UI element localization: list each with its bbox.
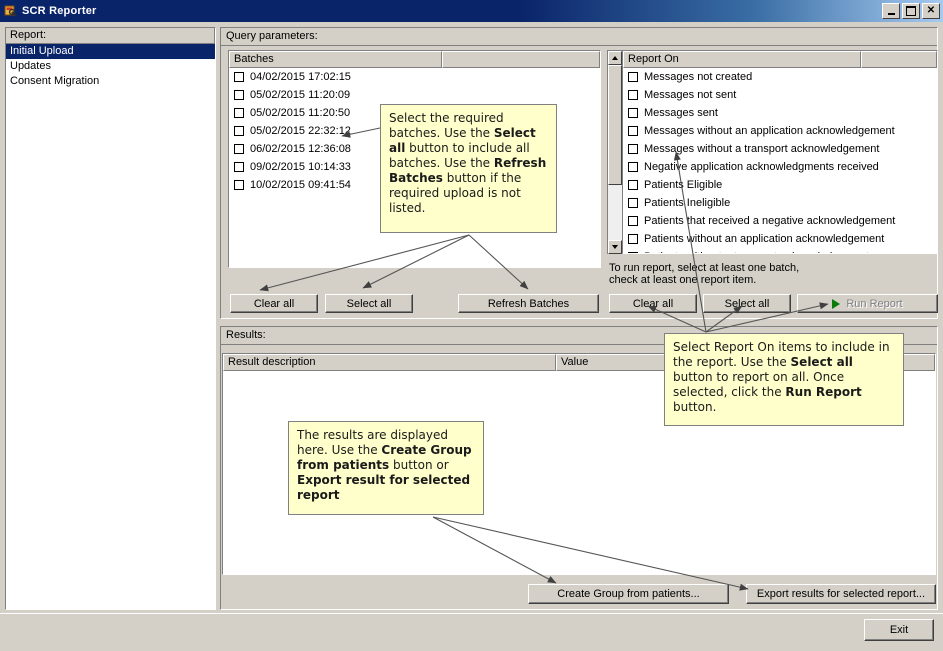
report-list-item[interactable]: Consent Migration: [6, 74, 215, 89]
report-list-header: Report:: [6, 28, 215, 44]
checkbox-label: Patients Eligible: [644, 179, 722, 191]
checkbox-icon[interactable]: [628, 144, 638, 154]
results-callout: The results are displayed here. Use the …: [288, 421, 484, 515]
checkbox-icon[interactable]: [234, 108, 244, 118]
maximize-button[interactable]: [902, 3, 920, 19]
report-list[interactable]: Initial UploadUpdatesConsent Migration: [6, 44, 215, 89]
triangle-down-icon: [612, 245, 618, 249]
checkbox-icon[interactable]: [234, 162, 244, 172]
export-results-button[interactable]: Export results for selected report...: [746, 584, 936, 604]
checkbox-label: Patients that received a negative acknow…: [644, 215, 895, 227]
checkbox-icon[interactable]: [628, 108, 638, 118]
title-bar: SCR Reporter ✕: [0, 0, 943, 22]
report-on-column-1[interactable]: [861, 51, 937, 68]
checkbox-icon[interactable]: [234, 144, 244, 154]
batches-column-1[interactable]: [442, 51, 600, 68]
report-panel: Report: Initial UploadUpdatesConsent Mig…: [5, 27, 216, 610]
callout-text-segment: Export result for selected report: [297, 473, 470, 502]
batches-callout: Select the required batches. Use the Sel…: [380, 104, 557, 233]
checkbox-row[interactable]: 04/02/2015 17:02:15: [229, 68, 600, 86]
triangle-up-icon: [612, 56, 618, 60]
checkbox-label: 05/02/2015 11:20:50: [250, 107, 350, 119]
batches-column-headers: Batches: [229, 51, 600, 68]
checkbox-row[interactable]: Messages without a transport acknowledge…: [623, 140, 937, 158]
checkbox-icon[interactable]: [234, 180, 244, 190]
scr-reporter-window: SCR Reporter ✕ Report: Initial UploadUpd…: [0, 0, 943, 650]
app-icon: [4, 4, 18, 18]
scroll-down-button[interactable]: [608, 240, 622, 254]
window-title: SCR Reporter: [22, 5, 97, 17]
report-on-column-headers: Report On: [623, 51, 937, 68]
callout-text-segment: Select all: [791, 355, 853, 369]
checkbox-label: Messages not sent: [644, 89, 736, 101]
checkbox-label: Negative application acknowledgments rec…: [644, 161, 879, 173]
checkbox-icon[interactable]: [628, 180, 638, 190]
checkbox-row[interactable]: Patients that received a negative acknow…: [623, 212, 937, 230]
checkbox-icon[interactable]: [234, 72, 244, 82]
checkbox-icon[interactable]: [628, 234, 638, 244]
checkbox-icon[interactable]: [628, 162, 638, 172]
run-report-button[interactable]: Run Report: [797, 294, 938, 313]
checkbox-label: Messages sent: [644, 107, 718, 119]
create-group-button[interactable]: Create Group from patients...: [528, 584, 729, 604]
report-on-panel: Report On Messages not createdMessages n…: [607, 50, 938, 254]
checkbox-row[interactable]: Patients without a transport acknowledge…: [623, 248, 937, 254]
report-list-item[interactable]: Initial Upload: [6, 44, 215, 59]
close-button[interactable]: ✕: [922, 3, 940, 19]
checkbox-label: Messages without a transport acknowledge…: [644, 143, 879, 155]
checkbox-label: Messages not created: [644, 71, 752, 83]
batches-column-0[interactable]: Batches: [229, 51, 442, 68]
scrollbar-thumb[interactable]: [608, 65, 622, 185]
scrollbar-track[interactable]: [608, 65, 622, 240]
checkbox-icon[interactable]: [628, 198, 638, 208]
callout-text-segment: button.: [673, 400, 716, 414]
checkbox-label: 05/02/2015 22:32:12: [250, 125, 351, 137]
results-column-description[interactable]: Result description: [223, 354, 556, 371]
report-on-callout: Select Report On items to include in the…: [664, 333, 904, 426]
footer-bar: [0, 613, 943, 651]
batches-select-all-button[interactable]: Select all: [325, 294, 413, 313]
window-controls: ✕: [882, 3, 940, 19]
checkbox-label: Messages without an application acknowle…: [644, 125, 895, 137]
checkbox-row[interactable]: Patients Eligible: [623, 176, 937, 194]
checkbox-icon[interactable]: [628, 72, 638, 82]
checkbox-label: 09/02/2015 10:14:33: [250, 161, 351, 173]
checkbox-row[interactable]: Messages not sent: [623, 86, 937, 104]
batches-clear-all-button[interactable]: Clear all: [230, 294, 318, 313]
checkbox-icon[interactable]: [628, 252, 638, 254]
checkbox-label: 10/02/2015 09:41:54: [250, 179, 351, 191]
checkbox-row[interactable]: Messages without an application acknowle…: [623, 122, 937, 140]
hint-line-2: check at least one report item.: [609, 274, 938, 286]
run-arrow-icon: [832, 299, 840, 309]
checkbox-row[interactable]: 05/02/2015 11:20:09: [229, 86, 600, 104]
callout-text-segment: button or: [389, 458, 448, 472]
checkbox-label: 05/02/2015 11:20:09: [250, 89, 350, 101]
callout-text-segment: Run Report: [785, 385, 861, 399]
report-on-list[interactable]: Report On Messages not createdMessages n…: [622, 50, 938, 254]
checkbox-label: Patients without an application acknowle…: [644, 233, 884, 245]
checkbox-icon[interactable]: [234, 126, 244, 136]
query-parameters-header: Query parameters:: [221, 28, 937, 46]
checkbox-icon[interactable]: [628, 90, 638, 100]
run-report-hint: To run report, select at least one batch…: [609, 262, 938, 286]
checkbox-label: Patients Ineligible: [644, 197, 730, 209]
checkbox-label: Patients without a transport acknowledge…: [644, 251, 869, 254]
scroll-up-button[interactable]: [608, 51, 622, 65]
run-report-label: Run Report: [846, 298, 902, 310]
refresh-batches-button[interactable]: Refresh Batches: [458, 294, 599, 313]
hint-line-1: To run report, select at least one batch…: [609, 262, 938, 274]
checkbox-icon[interactable]: [628, 216, 638, 226]
report-on-scrollbar[interactable]: [607, 50, 622, 254]
checkbox-row[interactable]: Messages not created: [623, 68, 937, 86]
exit-button[interactable]: Exit: [864, 619, 934, 641]
report-list-item[interactable]: Updates: [6, 59, 215, 74]
report-on-column-0[interactable]: Report On: [623, 51, 861, 68]
minimize-button[interactable]: [882, 3, 900, 19]
report-on-items[interactable]: Messages not createdMessages not sentMes…: [623, 68, 937, 254]
report-on-clear-all-button[interactable]: Clear all: [609, 294, 697, 313]
checkbox-label: 04/02/2015 17:02:15: [250, 71, 351, 83]
checkbox-label: 06/02/2015 12:36:08: [250, 143, 351, 155]
callout-text-segment: Select Report On items to include in the…: [673, 340, 890, 369]
report-on-select-all-button[interactable]: Select all: [703, 294, 791, 313]
callout-text-segment: Select the required batches. Use the: [389, 111, 504, 140]
checkbox-row[interactable]: Patients without an application acknowle…: [623, 230, 937, 248]
checkbox-icon[interactable]: [628, 126, 638, 136]
checkbox-row[interactable]: Negative application acknowledgments rec…: [623, 158, 937, 176]
checkbox-row[interactable]: Messages sent: [623, 104, 937, 122]
checkbox-row[interactable]: Patients Ineligible: [623, 194, 937, 212]
checkbox-icon[interactable]: [234, 90, 244, 100]
